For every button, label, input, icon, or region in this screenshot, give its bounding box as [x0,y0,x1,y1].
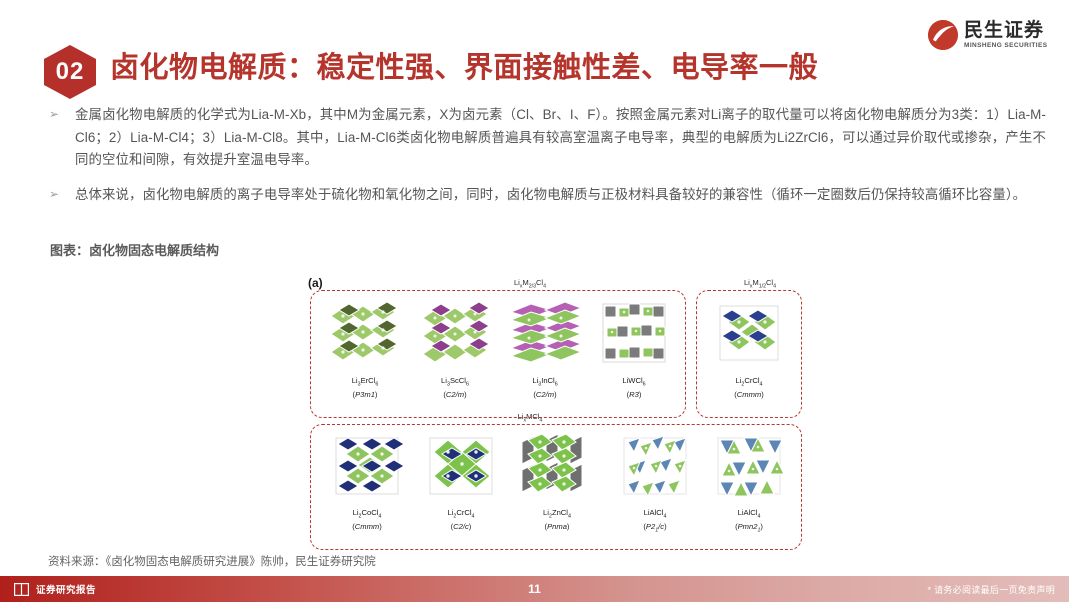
page-number: 11 [0,576,1069,602]
structure-panel: LiAlCl4 (P21/c) [612,432,698,536]
structure-graphic-li3incl6 [502,298,588,374]
structure-panel: LiWCl6 (R3) [592,298,676,399]
bullet-marker-icon: ➢ [46,104,75,172]
structure-panel: Li3InCl6 (C2/m) [502,298,588,399]
figure-crystal-structures: (a) LixM2/3Cl4 LixM1/2Cl4 LixMCl4 [300,272,820,554]
structure-label: Li3ErCl6 (P3m1) [352,376,379,399]
structure-graphic-lialcl4-p21c [612,432,698,506]
structure-graphic-li2crcl4-cmmm [706,298,792,374]
logo-company-name-en: MINSHENG SECURITIES [964,43,1047,50]
structure-panel: Li2CrCl4 (Cmmm) [706,298,792,399]
body-content: ➢ 金属卤化物电解质的化学式为Lia-M-Xb，其中M为金属元素，X为卤元素（C… [46,104,1046,218]
structure-panel: Li2CrCl4 (C2/c) [418,432,504,531]
structure-graphic-li3ercl6 [322,298,408,374]
section-number-badge: 02 [44,45,96,99]
footer-disclaimer: * 请务必阅读最后一页免责声明 [927,576,1055,602]
slide: 民生证券 MINSHENG SECURITIES 02 卤化物电解质：稳定性强、… [0,0,1069,608]
bullet-item: ➢ 总体来说，卤化物电解质的离子电导率处于硫化物和氧化物之间，同时，卤化物电解质… [46,184,1046,207]
structure-label: Li2CoCl4 (Cmmm) [352,508,382,531]
structure-graphic-li2crcl4-c2c [418,432,504,506]
footer-bar: 证券研究报告 11 * 请务必阅读最后一页免责声明 [0,576,1069,602]
structure-panel: Li3ErCl6 (P3m1) [322,298,408,399]
structure-graphic-liwcl6 [592,298,676,374]
company-logo: 民生证券 MINSHENG SECURITIES [928,20,1047,50]
structure-label: Li2CrCl4 (C2/c) [447,508,474,531]
structure-label: Li2ZnCl4 (Pnma) [543,508,571,531]
structure-panel: LiAlCl4 (Pmn21) [706,432,792,536]
figure-caption: 图表：卤化物固态电解质结构 [50,240,219,259]
figure-panel-letter: (a) [308,276,323,290]
figure-group-header: LixM1/2Cl4 [700,278,820,290]
structure-graphic-li3sccl6 [412,298,498,374]
structure-label: Li3ScCl6 (C2/m) [441,376,469,399]
structure-label: Li3InCl6 (C2/m) [532,376,557,399]
bullet-marker-icon: ➢ [46,184,75,207]
structure-panel: Li2ZnCl4 (Pnma) [512,432,602,531]
structure-graphic-lialcl4-pmn21 [706,432,792,506]
bullet-paragraph: 金属卤化物电解质的化学式为Lia-M-Xb，其中M为金属元素，X为卤元素（Cl、… [75,104,1046,172]
structure-panel: Li2CoCl4 (Cmmm) [324,432,410,531]
structure-label: LiAlCl4 (Pmn21) [735,508,763,536]
minsheng-swoosh-logo-icon [928,20,958,50]
logo-company-name-cn: 民生证券 [964,21,1047,40]
bullet-paragraph: 总体来说，卤化物电解质的离子电导率处于硫化物和氧化物之间，同时，卤化物电解质与正… [75,184,1046,207]
structure-label: LiWCl6 (R3) [622,376,645,399]
structure-label: Li2CrCl4 (Cmmm) [734,376,764,399]
source-note: 资料来源：《卤化物固态电解质研究进展》陈帅，民生证券研究院 [48,553,376,569]
structure-graphic-li2zncl4 [512,432,602,506]
figure-group-header: LixM2/3Cl4 [400,278,660,290]
bullet-item: ➢ 金属卤化物电解质的化学式为Lia-M-Xb，其中M为金属元素，X为卤元素（C… [46,104,1046,172]
structure-label: LiAlCl4 (P21/c) [643,508,666,536]
page-title: 卤化物电解质：稳定性强、界面接触性差、电导率一般 [110,50,930,88]
structure-graphic-li2cocl4 [324,432,410,506]
structure-panel: Li3ScCl6 (C2/m) [412,298,498,399]
bottom-strip [0,602,1069,608]
